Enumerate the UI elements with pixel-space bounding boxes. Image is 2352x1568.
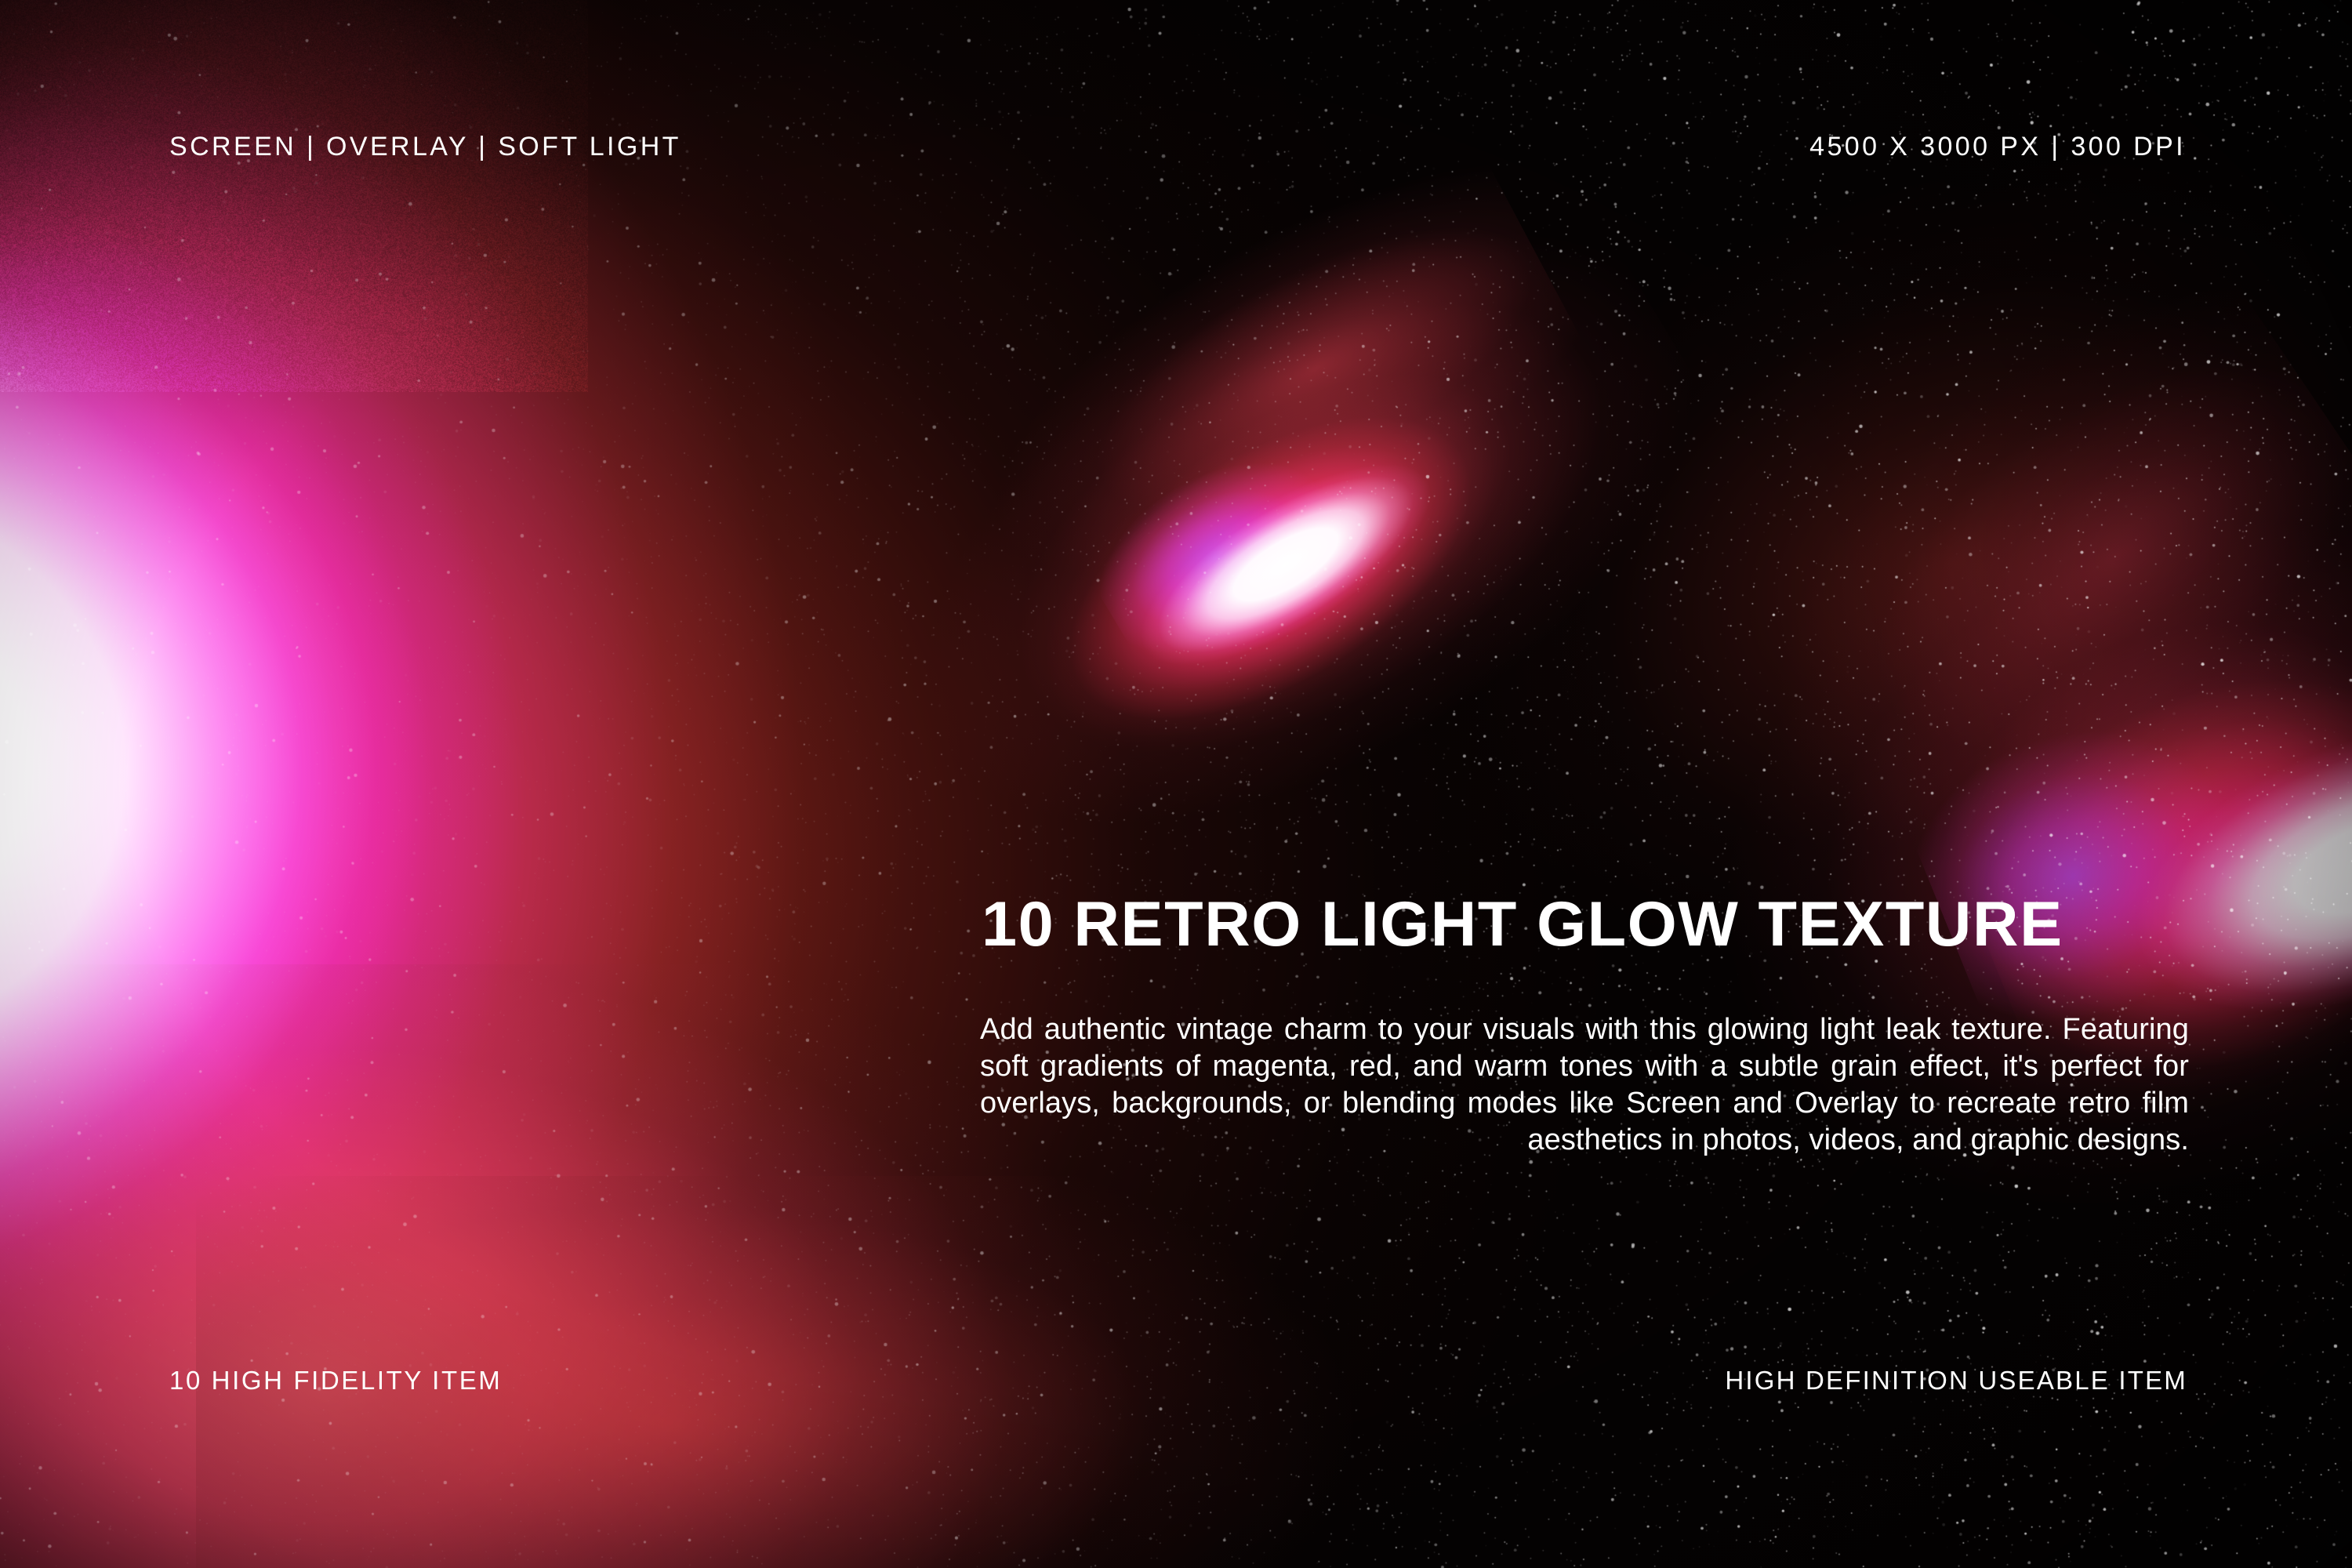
- poster-text-content: SCREEN | OVERLAY | SOFT LIGHT 4500 X 300…: [0, 0, 2352, 1568]
- page-title: 10 RETRO LIGHT GLOW TEXTURE: [982, 893, 2189, 956]
- poster-canvas: SCREEN | OVERLAY | SOFT LIGHT 4500 X 300…: [0, 0, 2352, 1568]
- fidelity-label: 10 HIGH FIDELITY ITEM: [169, 1366, 502, 1396]
- poster-description: Add authentic vintage charm to your visu…: [980, 1011, 2189, 1159]
- dimensions-label: 4500 X 3000 PX | 300 DPI: [1809, 132, 2186, 162]
- definition-label: HIGH DEFINITION USEABLE ITEM: [1725, 1366, 2187, 1396]
- blend-modes-label: SCREEN | OVERLAY | SOFT LIGHT: [169, 132, 681, 162]
